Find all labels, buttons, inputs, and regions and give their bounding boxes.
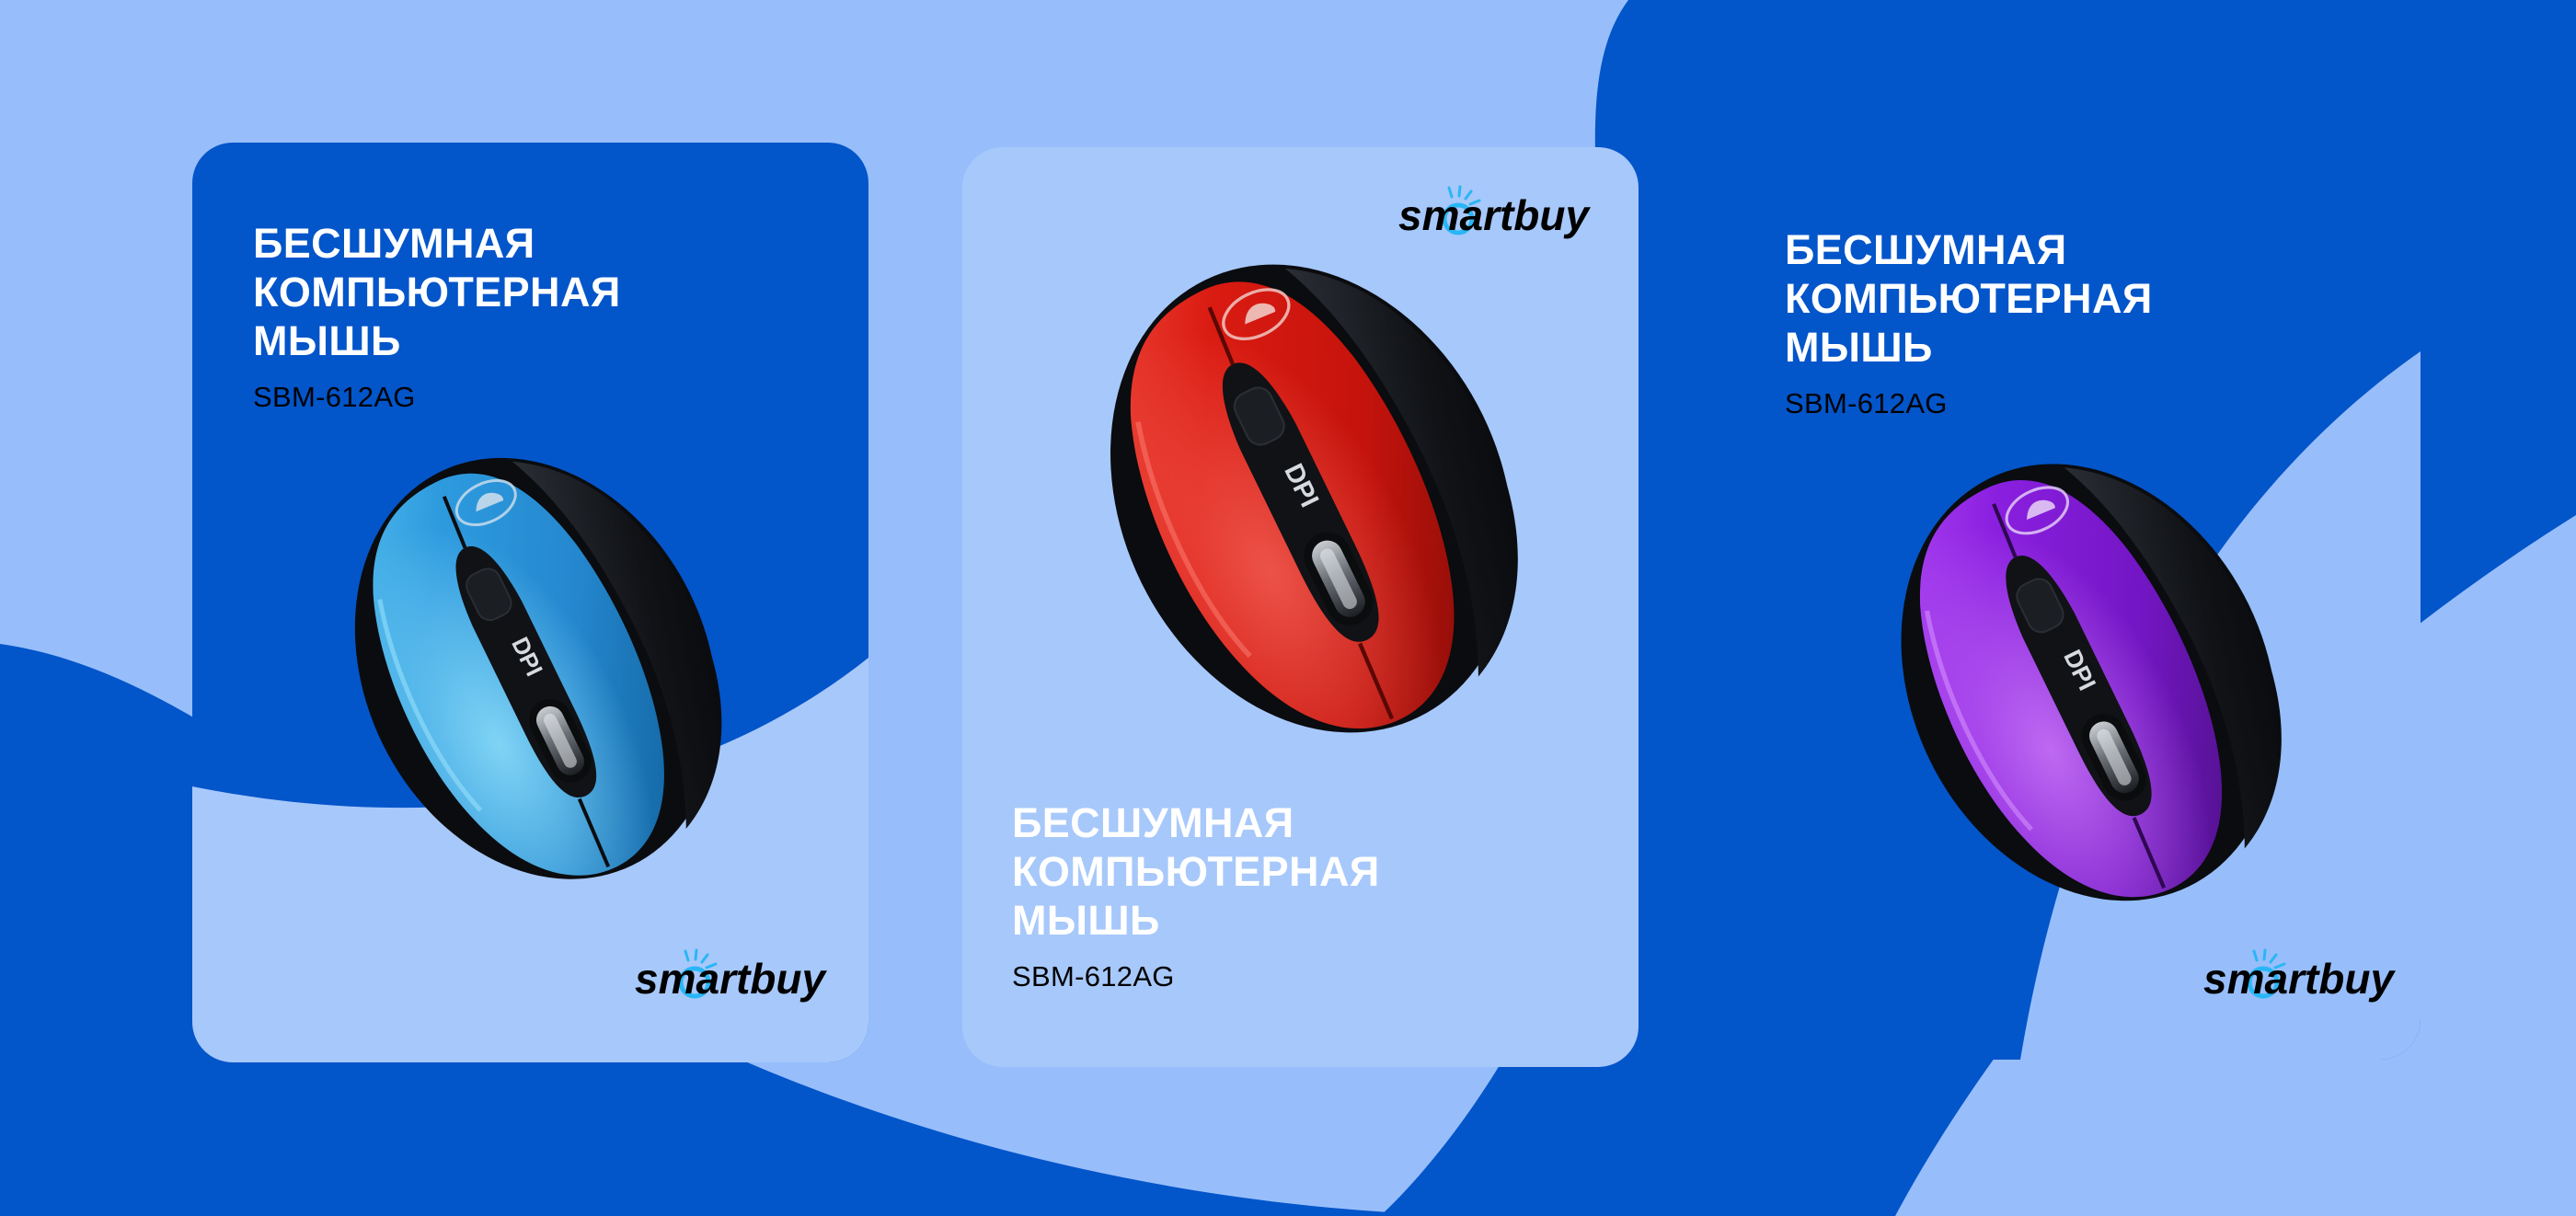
banner-canvas: БЕСШУМНАЯ КОМПЬЮТЕРНАЯ МЫШЬ SBM-612AG <box>0 0 2576 1216</box>
logo-text: smartbuy <box>1398 191 1591 239</box>
logo-text: smartbuy <box>635 955 827 1003</box>
product-text-red: БЕСШУМНАЯ КОМПЬЮТЕРНАЯ МЫШЬ SBM-612AG <box>1012 798 1380 993</box>
product-title: БЕСШУМНАЯ КОМПЬЮТЕРНАЯ МЫШЬ <box>253 219 621 365</box>
smartbuy-logo: smartbuy <box>635 947 828 1004</box>
smartbuy-logo: smartbuy <box>1398 184 1592 241</box>
logo-text: smartbuy <box>2203 955 2396 1003</box>
product-text-purple: БЕСШУМНАЯ КОМПЬЮТЕРНАЯ МЫШЬ SBM-612AG <box>1785 225 2153 420</box>
product-title: БЕСШУМНАЯ КОМПЬЮТЕРНАЯ МЫШЬ <box>1785 225 2153 372</box>
smartbuy-logo: smartbuy <box>2203 947 2397 1004</box>
product-model: SBM-612AG <box>253 381 621 414</box>
product-model: SBM-612AG <box>1785 387 2153 420</box>
product-text-blue: БЕСШУМНАЯ КОМПЬЮТЕРНАЯ МЫШЬ SBM-612AG <box>253 219 621 414</box>
product-title: БЕСШУМНАЯ КОМПЬЮТЕРНАЯ МЫШЬ <box>1012 798 1380 945</box>
product-model: SBM-612AG <box>1012 960 1380 993</box>
